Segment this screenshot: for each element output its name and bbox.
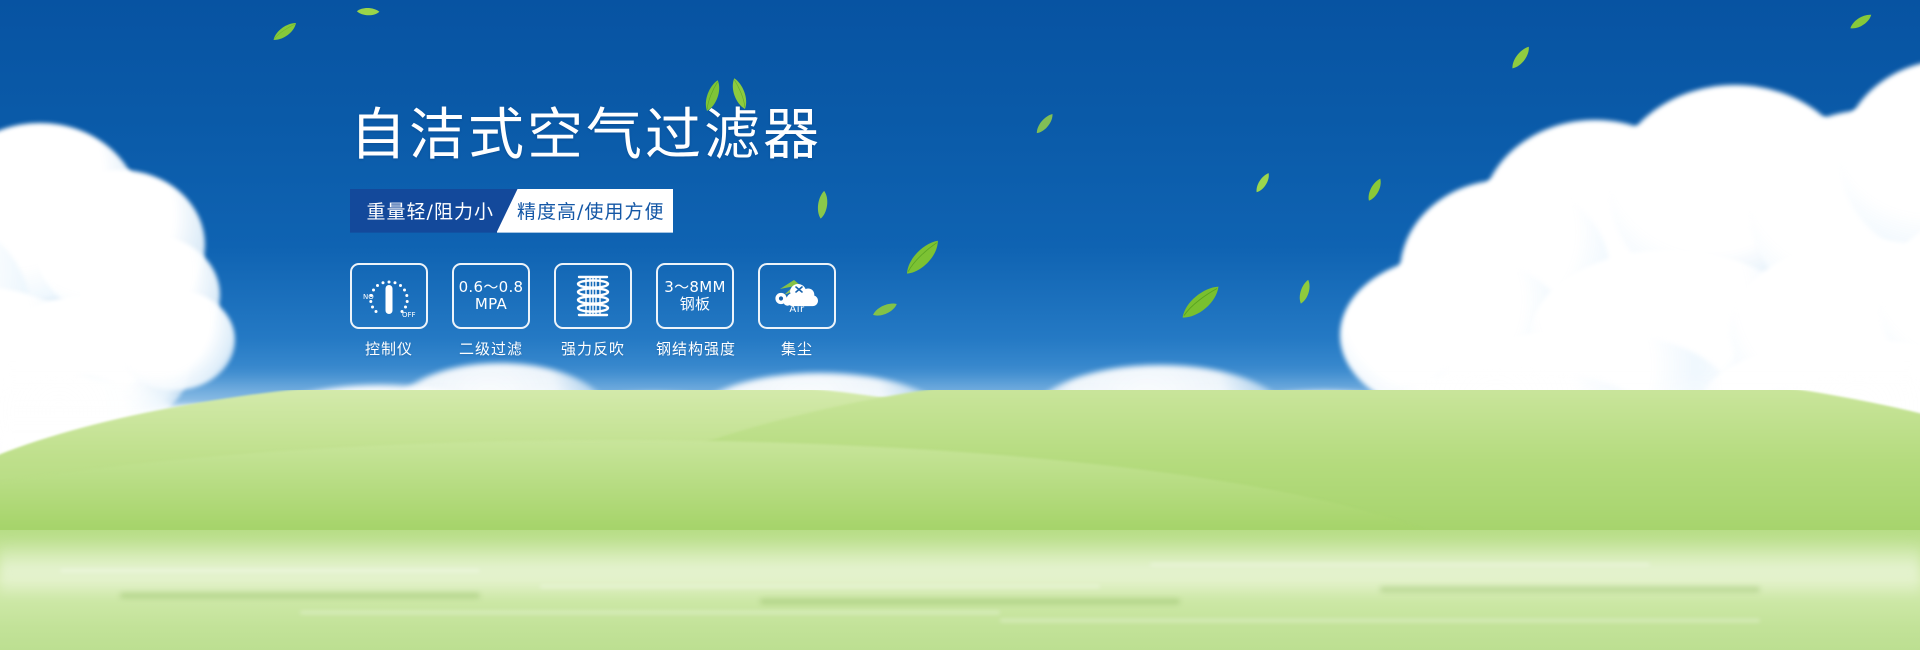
leaf-icon: [356, 4, 381, 19]
pressure-line-2: MPA: [459, 296, 524, 313]
leaf-icon: [1251, 171, 1274, 194]
feature-caption: 二级过滤: [452, 338, 530, 359]
leaf-icon: [1847, 13, 1875, 32]
feature-icon-box: 0.6～0.8 MPA: [452, 263, 530, 329]
feature-caption: 钢结构强度: [656, 338, 734, 359]
svg-text:OFF: OFF: [402, 311, 416, 319]
cloud-right: [1280, 40, 1920, 440]
banner-content: 自洁式空气过滤器 重量轻/阻力小 精度高/使用方便: [350, 105, 1110, 359]
badge-lightweight-lowresistance: 重量轻/阻力小: [350, 189, 519, 233]
filter-coil-icon: [570, 271, 616, 321]
pressure-line-1: 0.6～0.8: [459, 278, 524, 296]
hero-banner: 自洁式空气过滤器 重量轻/阻力小 精度高/使用方便: [0, 0, 1920, 650]
feature-list: NO OFF 控制仪 0.6～0.8 MPA 二级过滤: [350, 263, 1110, 359]
leaf-icon: [1507, 45, 1536, 72]
feature-item-control-instrument: NO OFF 控制仪: [350, 263, 428, 359]
feature-icon-box: Air: [758, 263, 836, 329]
feature-icon-box: 3～8MM 钢板: [656, 263, 734, 329]
pressure-text-icon: 0.6～0.8 MPA: [459, 279, 524, 313]
feature-caption: 集尘: [758, 338, 836, 359]
feature-caption: 控制仪: [350, 338, 428, 359]
feature-caption: 强力反吹: [554, 338, 632, 359]
badge-highprecision-easyuse: 精度高/使用方便: [497, 189, 673, 233]
feature-item-secondary-filtration: 0.6～0.8 MPA 二级过滤: [452, 263, 530, 359]
air-label: Air: [789, 304, 805, 313]
banner-title: 自洁式空气过滤器: [350, 105, 1110, 167]
leaf-icon: [269, 21, 300, 44]
svg-text:NO: NO: [363, 293, 374, 301]
feature-item-steel-structure-strength: 3～8MM 钢板 钢结构强度: [656, 263, 734, 359]
air-cloud-icon: Air: [770, 279, 824, 313]
control-dial-icon: NO OFF: [361, 272, 417, 320]
leaf-icon: [1363, 177, 1388, 203]
feature-icon-box: [554, 263, 632, 329]
badge-group: 重量轻/阻力小 精度高/使用方便: [350, 189, 673, 233]
steel-line-1: 3～8MM: [664, 278, 725, 296]
feature-icon-box: NO OFF: [350, 263, 428, 329]
leaf-icon: [1294, 278, 1316, 305]
leaf-icon: [1175, 282, 1228, 323]
steel-plate-text-icon: 3～8MM 钢板: [664, 279, 725, 313]
feature-item-strong-backblow: 强力反吹: [554, 263, 632, 359]
steel-line-2: 钢板: [664, 296, 725, 313]
feature-item-dust-collection: Air 集尘: [758, 263, 836, 359]
grass-field: [0, 390, 1920, 650]
